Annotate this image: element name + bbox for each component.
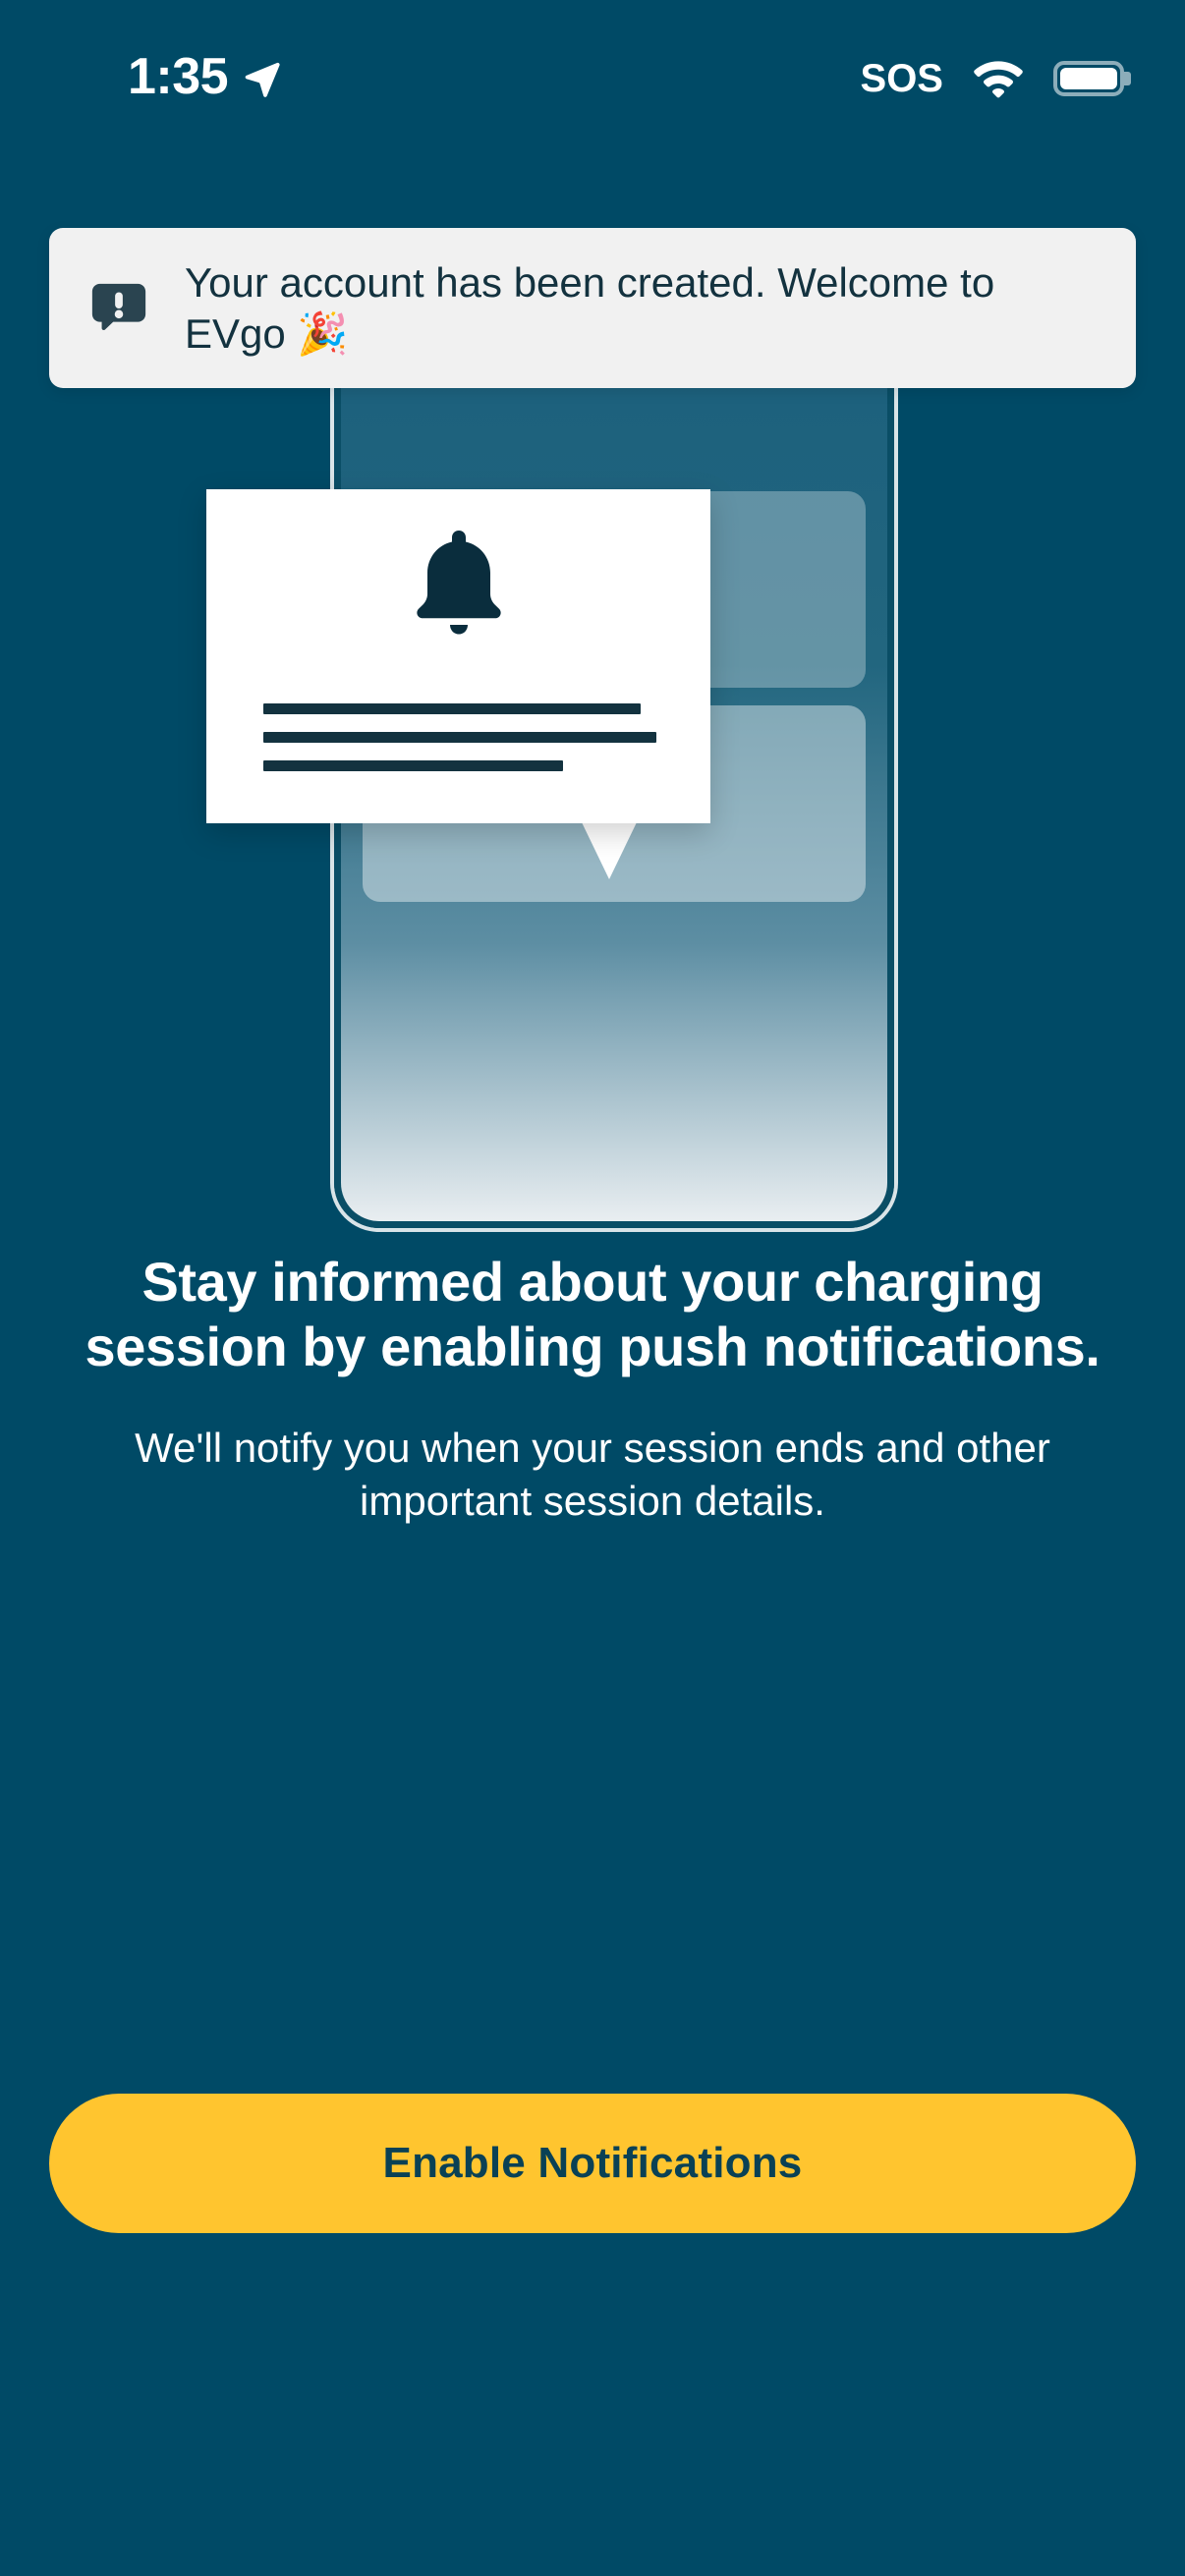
battery-icon [1053, 61, 1124, 96]
copy-block: Stay informed about your charging sessio… [0, 1250, 1185, 1528]
status-bar-left: 1:35 [128, 51, 281, 106]
status-bar-right: SOS [861, 57, 1124, 101]
bell-icon-wrapper [206, 531, 710, 635]
bell-icon [412, 531, 506, 635]
notification-bubble-card [206, 489, 710, 823]
notification-bubble-tail [582, 822, 637, 879]
alert-speech-bubble-icon [88, 278, 149, 339]
battery-cap [1124, 72, 1131, 85]
battery-level-fill [1060, 68, 1117, 89]
page-title: Stay informed about your charging sessio… [39, 1250, 1146, 1378]
page-subtitle: We'll notify you when your session ends … [39, 1422, 1146, 1528]
sos-indicator: SOS [861, 57, 943, 101]
status-bar: 1:35 SOS [0, 0, 1185, 157]
location-arrow-icon [242, 59, 281, 98]
placeholder-line [263, 760, 563, 771]
wifi-icon [973, 59, 1024, 98]
notification-permission-screen: 1:35 SOS Your account has been created [0, 0, 1185, 2576]
enable-notifications-button[interactable]: Enable Notifications [49, 2094, 1136, 2233]
notification-placeholder-lines [263, 703, 656, 771]
push-notification-illustration [0, 295, 1185, 1238]
placeholder-line [263, 703, 641, 714]
account-created-toast[interactable]: Your account has been created. Welcome t… [49, 228, 1136, 388]
toast-message: Your account has been created. Welcome t… [185, 257, 1102, 358]
status-bar-clock: 1:35 [128, 51, 228, 106]
placeholder-line [263, 732, 656, 743]
